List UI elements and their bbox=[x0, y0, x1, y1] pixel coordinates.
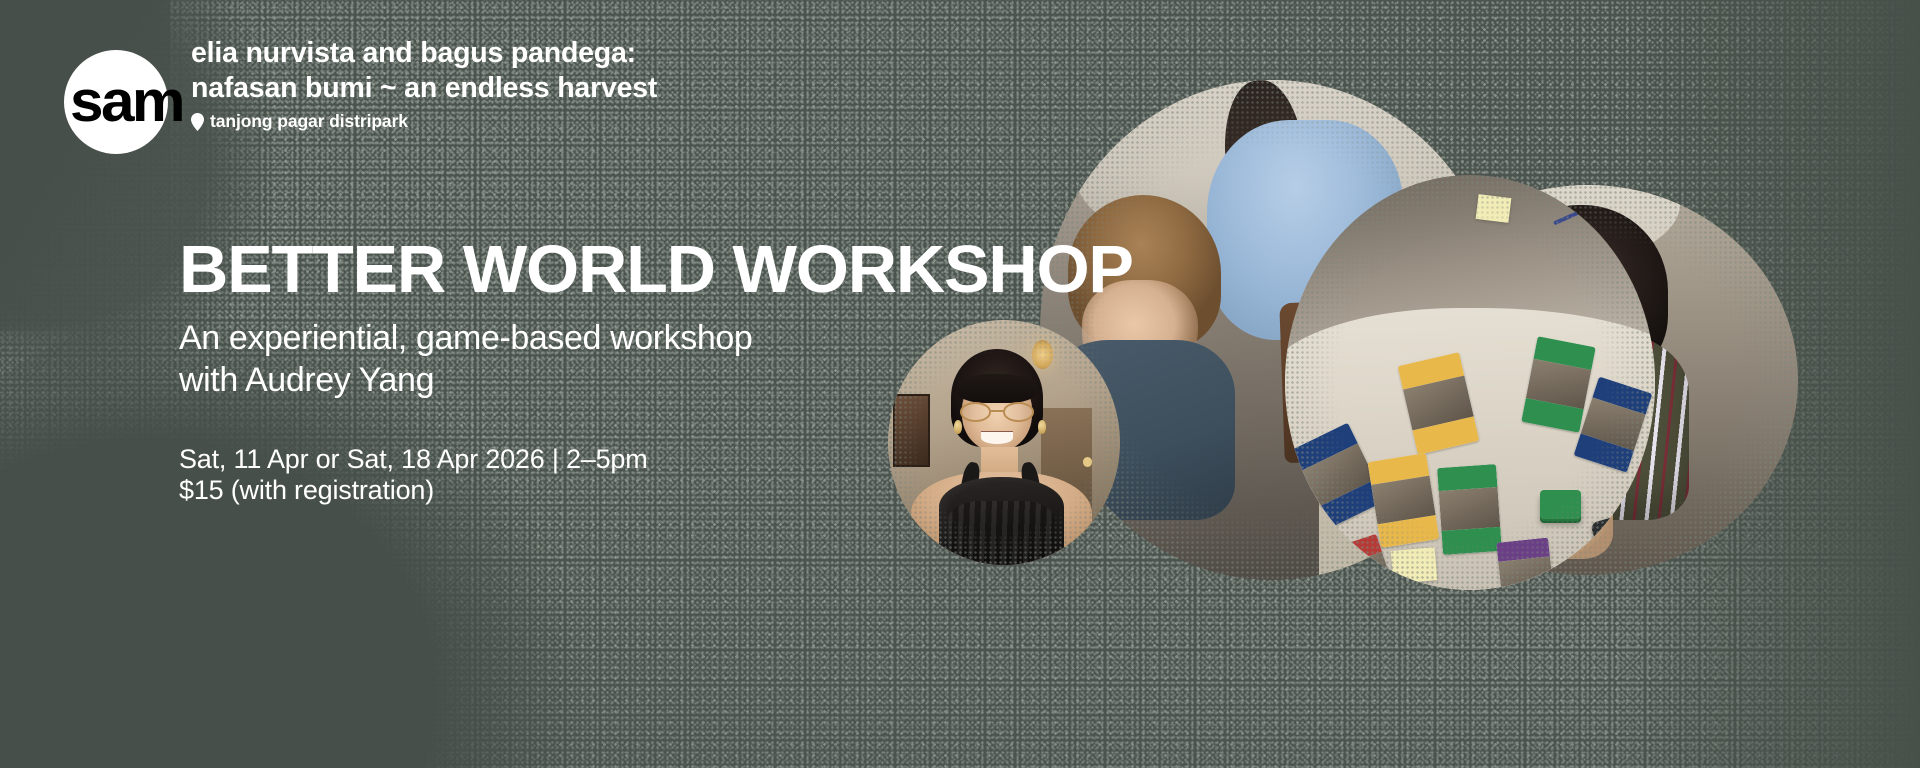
venue-label: tanjong pagar distripark bbox=[210, 111, 408, 132]
game-card bbox=[1496, 538, 1555, 590]
banner-header: sam elia nurvista and bagus pandega: naf… bbox=[64, 36, 657, 154]
game-cards-photo bbox=[1285, 175, 1655, 590]
card-footer bbox=[1442, 526, 1503, 554]
workshop-dates: Sat, 11 Apr or Sat, 18 Apr 2026 | 2–5pm bbox=[179, 445, 1114, 474]
sticky-note bbox=[1476, 194, 1512, 223]
game-card bbox=[1437, 464, 1502, 555]
location-pin-icon bbox=[191, 113, 204, 131]
card-image bbox=[1439, 486, 1501, 530]
page-title: BETTER WORLD WORKSHOP bbox=[179, 236, 1133, 304]
green-token-stack bbox=[1540, 490, 1581, 519]
event-banner: sam elia nurvista and bagus pandega: naf… bbox=[0, 0, 1920, 768]
banner-copy: BETTER WORLD WORKSHOP An experiential, g… bbox=[179, 236, 1114, 507]
workshop-subtitle: An experiential, game-based workshop wit… bbox=[179, 317, 1114, 401]
exhibition-artists: elia nurvista and bagus pandega: bbox=[191, 36, 657, 71]
venue-line: tanjong pagar distripark bbox=[191, 111, 657, 132]
subtitle-line-2: with Audrey Yang bbox=[179, 359, 1114, 401]
sam-logo[interactable]: sam bbox=[64, 50, 168, 154]
exhibition-info: elia nurvista and bagus pandega: nafasan… bbox=[191, 36, 657, 132]
workshop-price: $15 (with registration) bbox=[179, 476, 1114, 505]
card-image bbox=[1498, 557, 1553, 590]
workshop-details: Sat, 11 Apr or Sat, 18 Apr 2026 | 2–5pm … bbox=[179, 445, 1114, 505]
exhibition-title: nafasan bumi ~ an endless harvest bbox=[191, 71, 657, 106]
subtitle-line-1: An experiential, game-based workshop bbox=[179, 317, 1114, 359]
dress-pleats bbox=[948, 501, 1055, 565]
sticky-note bbox=[1391, 547, 1438, 584]
sam-logo-label: sam bbox=[70, 76, 183, 128]
